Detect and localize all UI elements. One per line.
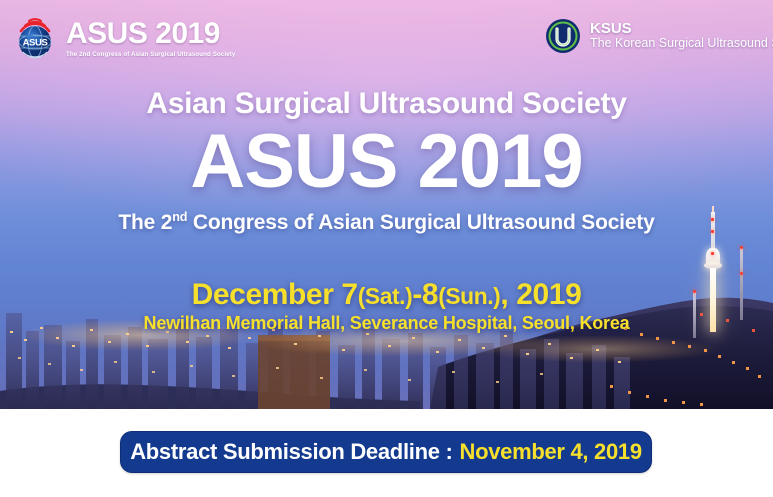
date-year: , 2019	[500, 278, 581, 311]
ksus-emblem-logo-icon	[545, 18, 581, 54]
asus-logo-title: ASUS 2019	[66, 19, 235, 49]
event-title: ASUS 2019	[0, 124, 773, 200]
ksus-logo-subtitle: The Korean Surgical Ultrasound Society	[590, 36, 773, 51]
date-separator: -8	[412, 278, 438, 311]
conference-banner: ASUS ASUS 2019 The 2nd Congress of Asian…	[0, 0, 773, 497]
ksus-logo-text: KSUS The Korean Surgical Ultrasound Soci…	[590, 21, 773, 52]
date-day-2: (Sun.)	[438, 283, 500, 309]
abstract-deadline-banner[interactable]: Abstract Submission Deadline : November …	[120, 431, 652, 473]
deadline-label: Abstract Submission Deadline :	[130, 439, 452, 465]
asus-logo[interactable]: ASUS ASUS 2019 The 2nd Congress of Asian…	[10, 14, 235, 62]
date-day-1: (Sat.)	[358, 283, 413, 309]
deadline-date: November 4, 2019	[459, 439, 641, 465]
hero-photo: ASUS ASUS 2019 The 2nd Congress of Asian…	[0, 0, 773, 409]
asus-logo-text: ASUS 2019 The 2nd Congress of Asian Surg…	[66, 19, 235, 58]
congress-suffix: Congress of Asian Surgical Ultrasound So…	[187, 211, 654, 234]
ksus-logo[interactable]: KSUS The Korean Surgical Ultrasound Soci…	[545, 18, 773, 54]
asus-logo-subtitle: The 2nd Congress of Asian Surgical Ultra…	[66, 51, 235, 58]
tower-beacon-icon	[711, 252, 714, 255]
antenna-beacon-icon	[740, 272, 743, 275]
ksus-logo-title: KSUS	[590, 21, 773, 37]
congress-ordinal: nd	[172, 210, 187, 224]
congress-prefix: The 2	[118, 211, 172, 234]
svg-text:ASUS: ASUS	[23, 38, 48, 49]
date-main-1: December 7	[192, 278, 358, 311]
headline-block: Asian Surgical Ultrasound Society ASUS 2…	[0, 88, 773, 235]
congress-subtitle: The 2nd Congress of Asian Surgical Ultra…	[0, 210, 773, 235]
event-venue: Newilhan Memorial Hall, Severance Hospit…	[0, 313, 773, 334]
event-date: December 7(Sat.)-8(Sun.), 2019	[0, 278, 773, 312]
society-name: Asian Surgical Ultrasound Society	[0, 88, 773, 120]
antenna-beacon-icon	[740, 246, 743, 249]
asus-globe-logo-icon: ASUS	[10, 14, 60, 62]
